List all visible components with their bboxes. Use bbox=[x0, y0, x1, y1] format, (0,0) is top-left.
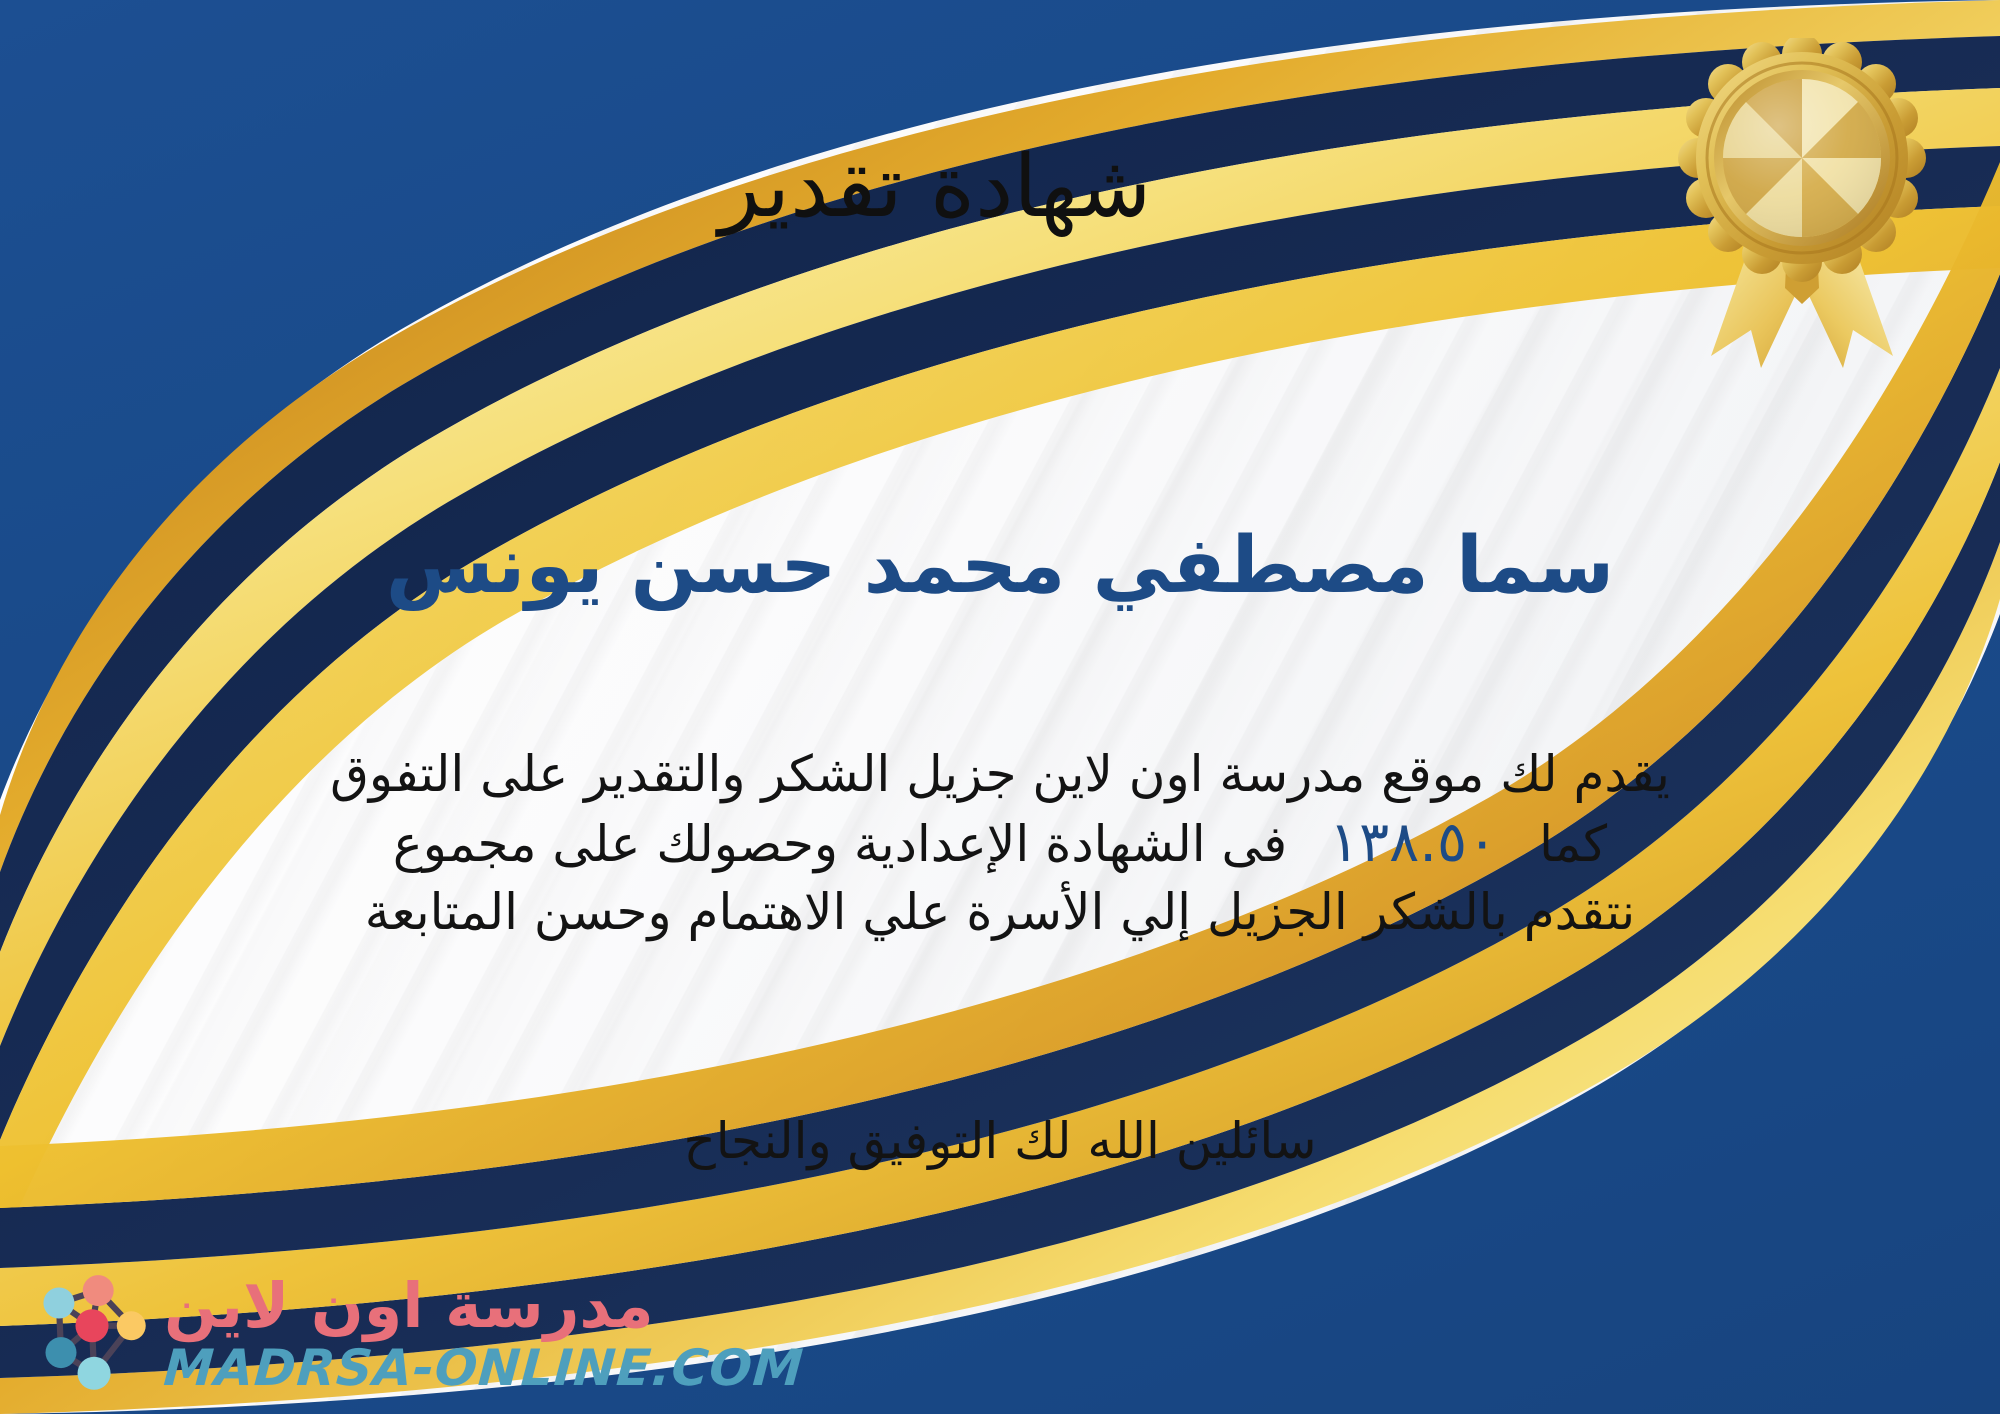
grade-value: ١٣٨.٥٠ bbox=[1303, 810, 1523, 875]
closing-line: سائلين الله لك التوفيق والنجاح bbox=[0, 1112, 2000, 1170]
body-line-2-after: كما bbox=[1539, 815, 1607, 873]
body-line-1: يقدم لك موقع مدرسة اون لاين جزيل الشكر و… bbox=[40, 742, 1960, 807]
body-line-2: كما ١٣٨.٥٠ فى الشهادة الإعدادية وحصولك ع… bbox=[40, 807, 1960, 880]
recipient-name: سما مصطفي محمد حسن يونس bbox=[0, 522, 2000, 612]
body-line-2-before: فى الشهادة الإعدادية وحصولك على مجموع bbox=[393, 815, 1287, 873]
certificate-content: شهادة تقدير سما مصطفي محمد حسن يونس يقدم… bbox=[0, 0, 2000, 1414]
logo-arabic-name: مدرسة اون لاين bbox=[164, 1275, 654, 1337]
logo-text-group: مدرسة اون لاين MADRSA-ONLINE.COM bbox=[164, 1275, 804, 1393]
certificate-card: شهادة تقدير سما مصطفي محمد حسن يونس يقدم… bbox=[0, 0, 2000, 1414]
site-logo[interactable]: مدرسة اون لاين MADRSA-ONLINE.COM bbox=[30, 1272, 804, 1396]
certificate-body: يقدم لك موقع مدرسة اون لاين جزيل الشكر و… bbox=[40, 742, 1960, 945]
certificate-title: شهادة تقدير bbox=[0, 140, 2000, 235]
body-line-3: نتقدم بالشكر الجزيل إلي الأسرة علي الاهت… bbox=[40, 880, 1960, 945]
network-nodes-icon bbox=[30, 1272, 154, 1396]
logo-website-url: MADRSA-ONLINE.COM bbox=[162, 1343, 805, 1393]
